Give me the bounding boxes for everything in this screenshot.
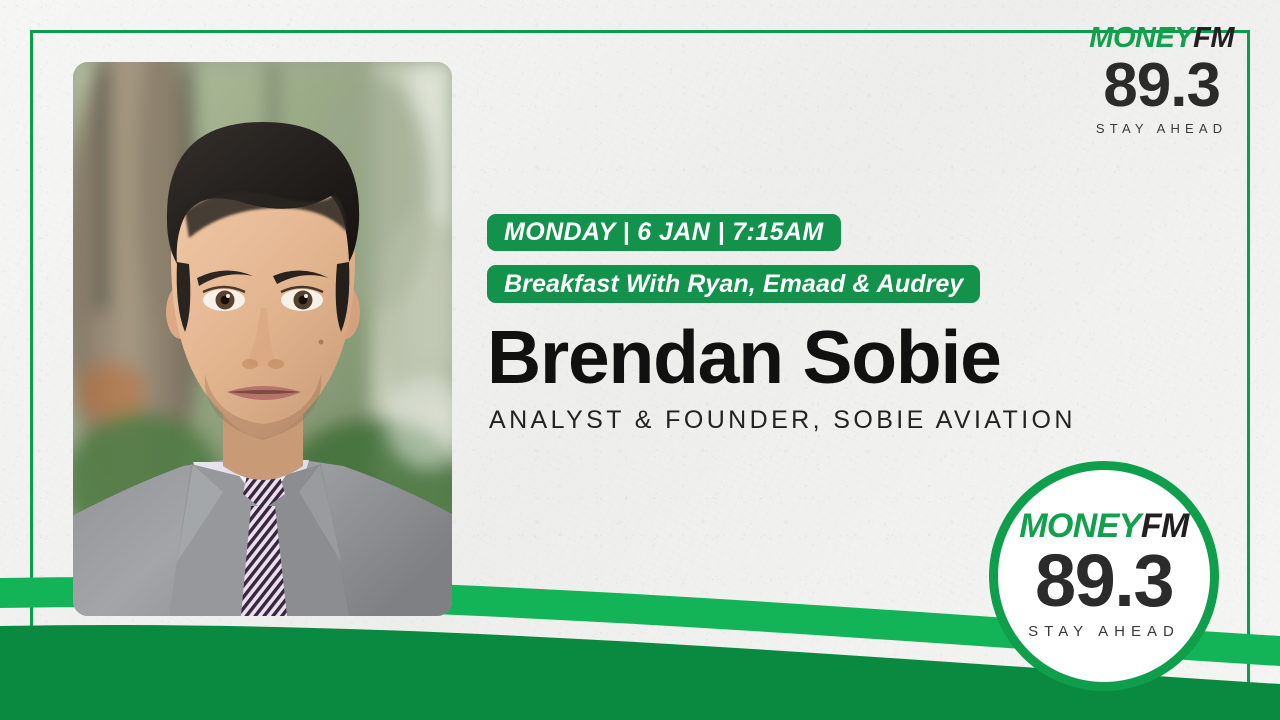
guest-role: ANALYST & FOUNDER, SOBIE AVIATION: [489, 406, 1076, 435]
date-time-badge: MONDAY | 6 JAN | 7:15AM: [487, 214, 841, 251]
logo-fm-text: FM: [1193, 24, 1234, 53]
logo-frequency: 89.3: [1103, 55, 1220, 117]
guest-photo: [73, 62, 452, 616]
logo-money-text: MONEY: [1089, 24, 1193, 53]
promo-graphic: MONDAY | 6 JAN | 7:15AM Breakfast With R…: [0, 0, 1280, 720]
guest-photo-illustration: [73, 62, 452, 616]
logo-tagline: STAY AHEAD: [1096, 122, 1227, 135]
show-name-badge: Breakfast With Ryan, Emaad & Audrey: [487, 265, 980, 303]
badge-logo-wordmark: MONEYFM: [1019, 509, 1189, 543]
moneyfm-logo-top: MONEYFM 89.3 STAY AHEAD: [1089, 24, 1234, 135]
badge-logo-money-text: MONEY: [1019, 509, 1141, 543]
moneyfm-logo-badge: MONEYFM 89.3 STAY AHEAD: [989, 461, 1219, 691]
logo-wordmark: MONEYFM: [1089, 24, 1234, 53]
guest-name: Brendan Sobie: [487, 320, 1001, 395]
badge-logo-tagline: STAY AHEAD: [1028, 624, 1180, 639]
badge-logo-frequency: 89.3: [1035, 544, 1173, 618]
badge-logo-fm-text: FM: [1141, 509, 1189, 543]
